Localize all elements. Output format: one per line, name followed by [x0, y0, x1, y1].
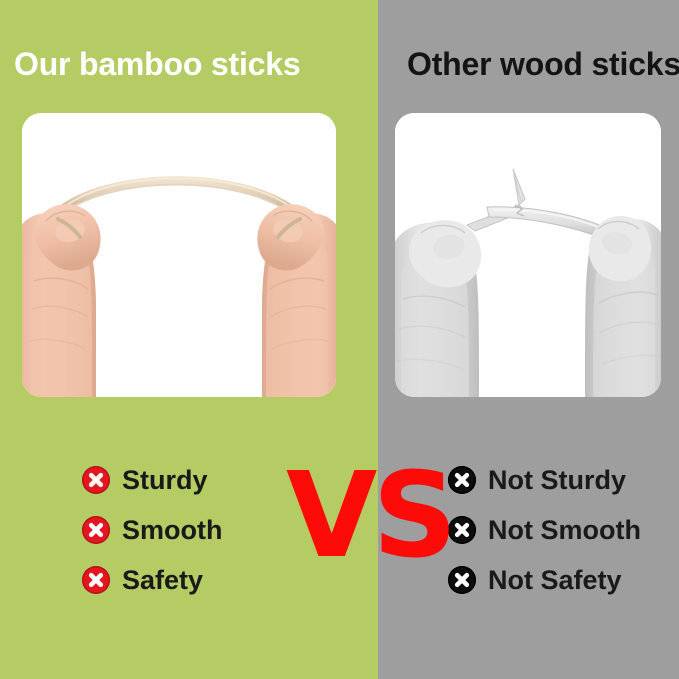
list-item: Not Sturdy [448, 455, 641, 505]
list-item: Smooth [82, 505, 223, 555]
right-photo-card [395, 113, 661, 397]
comparison-infographic: Our bamboo sticks Other wood sticks [0, 0, 679, 679]
list-item-label: Smooth [122, 517, 223, 544]
wood-stick-broken-photo [395, 113, 661, 397]
bamboo-stick-bend-photo [22, 113, 336, 397]
list-item-label: Not Safety [488, 567, 622, 594]
circle-x-icon [82, 566, 110, 594]
list-item: Not Smooth [448, 505, 641, 555]
right-panel-title: Other wood sticks [407, 48, 679, 80]
versus-label: VS [286, 456, 452, 574]
list-item-label: Safety [122, 567, 203, 594]
list-item: Not Safety [448, 555, 641, 605]
left-panel-title: Our bamboo sticks [14, 48, 300, 80]
circle-x-icon [82, 466, 110, 494]
list-item-label: Not Sturdy [488, 467, 626, 494]
list-item: Sturdy [82, 455, 223, 505]
list-item-label: Sturdy [122, 467, 208, 494]
list-item: Safety [82, 555, 223, 605]
list-item-label: Not Smooth [488, 517, 641, 544]
left-photo-card [22, 113, 336, 397]
left-feature-list: Sturdy Smooth Safety [82, 455, 223, 605]
circle-x-icon [82, 516, 110, 544]
right-feature-list: Not Sturdy Not Smooth Not Safety [448, 455, 641, 605]
